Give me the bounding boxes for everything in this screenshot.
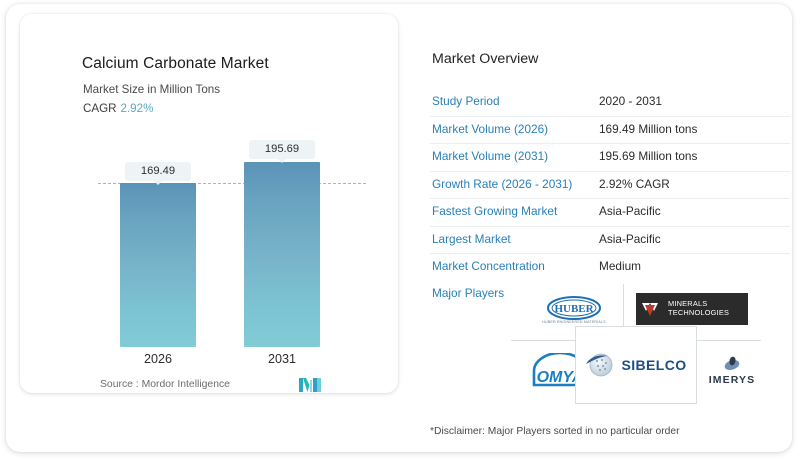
row-label: Market Volume (2031)	[432, 149, 548, 163]
row-value: Asia-Pacific	[599, 232, 661, 246]
mordor-intelligence-logo	[299, 376, 323, 392]
disclaimer-text: *Disclaimer: Major Players sorted in no …	[430, 426, 680, 437]
bar-chart-plot: 169.49 2026 195.69 2031	[20, 14, 398, 393]
row-label: Growth Rate (2026 - 2031)	[432, 177, 572, 191]
row-value: 195.69 Million tons	[599, 149, 697, 163]
huber-tagline: HUBER ENGINEERED MATERIALS	[542, 320, 606, 324]
bar-value-label-2031: 195.69	[249, 140, 315, 159]
infographic-card: Calcium Carbonate Market Market Size in …	[6, 4, 792, 452]
imerys-icon	[723, 354, 741, 372]
row-label: Market Volume (2026)	[432, 122, 548, 136]
player-logo-imerys: IMERYS	[703, 346, 761, 394]
sibelco-wordmark: SIBELCO	[621, 357, 686, 373]
svg-text:HUBER: HUBER	[554, 303, 594, 315]
row-label: Fastest Growing Market	[432, 204, 557, 218]
x-tick-2031: 2031	[244, 352, 320, 366]
table-row: Study Period 2020 - 2031	[430, 89, 790, 117]
bar-2026	[120, 183, 196, 347]
row-value: 2.92% CAGR	[599, 177, 670, 191]
x-tick-2026: 2026	[120, 352, 196, 366]
source-text: Source : Mordor Intelligence	[100, 379, 230, 390]
table-row: Growth Rate (2026 - 2031) 2.92% CAGR	[430, 172, 790, 200]
huber-icon: HUBER	[546, 296, 602, 320]
major-players-label: Major Players	[432, 286, 504, 300]
row-value: 169.49 Million tons	[599, 122, 697, 136]
table-row: Market Volume (2031) 195.69 Million tons	[430, 144, 790, 172]
bar-2031	[244, 162, 320, 347]
player-logo-minerals-technologies: MINERALS TECHNOLOGIES	[633, 289, 751, 329]
row-value: 2020 - 2031	[599, 94, 662, 108]
table-row: Fastest Growing Market Asia-Pacific	[430, 199, 790, 227]
row-label: Largest Market	[432, 232, 511, 246]
major-players-logo-grid: HUBER HUBER ENGINEERED MATERIALS MINERAL…	[511, 276, 761, 404]
market-overview-table: Study Period 2020 - 2031 Market Volume (…	[430, 89, 790, 282]
player-logo-sibelco: SIBELCO	[575, 326, 697, 404]
row-label: Market Concentration	[432, 259, 545, 273]
table-row: Largest Market Asia-Pacific	[430, 227, 790, 255]
sibelco-globe-icon	[585, 350, 615, 380]
bar-value-label-2026: 169.49	[125, 162, 191, 181]
table-row: Market Volume (2026) 169.49 Million tons	[430, 117, 790, 145]
row-value: Medium	[599, 259, 641, 273]
row-label: Study Period	[432, 94, 500, 108]
chart-panel: Calcium Carbonate Market Market Size in …	[20, 14, 398, 393]
row-value: Asia-Pacific	[599, 204, 661, 218]
minerals-technologies-mark	[641, 300, 663, 318]
market-overview-heading: Market Overview	[432, 51, 538, 67]
imerys-wordmark: IMERYS	[709, 374, 755, 386]
minerals-technologies-line2: TECHNOLOGIES	[668, 309, 729, 318]
